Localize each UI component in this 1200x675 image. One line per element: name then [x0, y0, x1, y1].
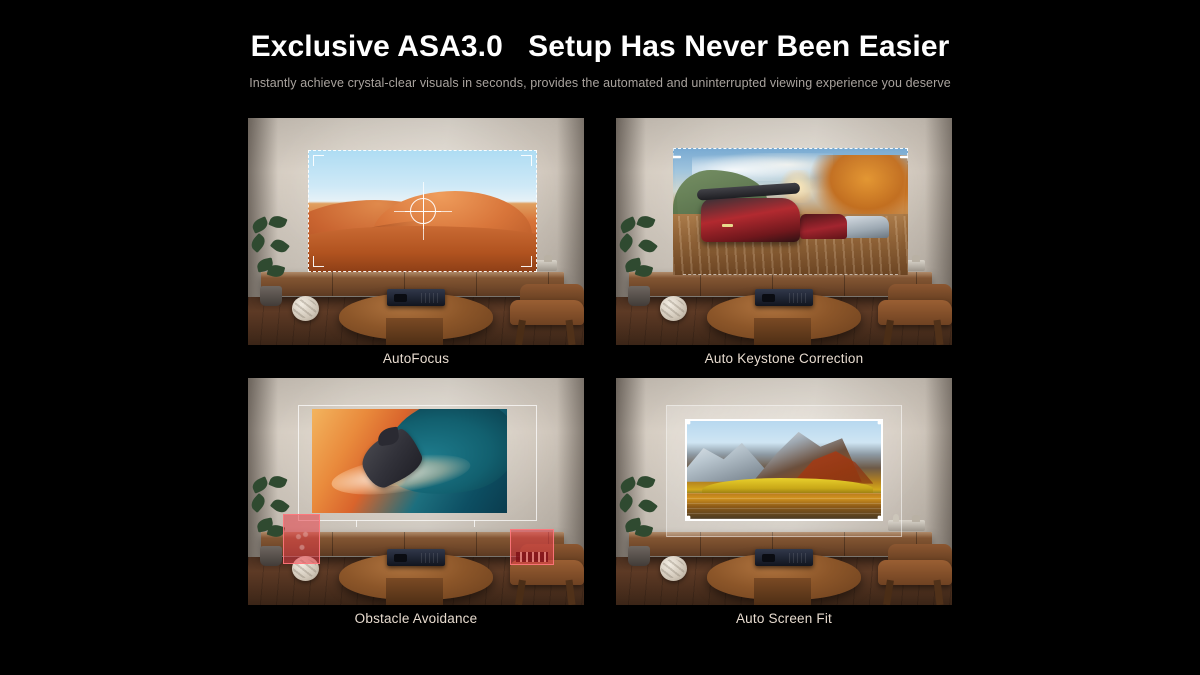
arrow-right-icon: [900, 150, 908, 164]
feature-card-autofocus[interactable]: AutoFocus: [248, 118, 584, 345]
obstacle-artwork: [291, 520, 313, 558]
table-leg: [754, 318, 811, 345]
leaf-icon: [635, 263, 654, 279]
leaf-icon: [619, 476, 638, 493]
plant-foliage: [618, 216, 665, 289]
mountain-lake-image: [687, 421, 881, 519]
wall-right-shadow: [557, 118, 584, 297]
leaf-icon: [269, 473, 288, 490]
projector-device: [387, 289, 444, 307]
knot-sculpture: [660, 296, 687, 321]
wall-right-shadow: [557, 378, 584, 557]
leaf-icon: [616, 493, 635, 513]
feature-card-obstacle[interactable]: Obstacle Avoidance: [248, 378, 584, 605]
keystone-frame-overlay: [673, 148, 908, 275]
knot-sculpture: [292, 296, 319, 321]
leaf-icon: [619, 216, 638, 233]
projector-vent: [421, 553, 440, 563]
obstacle-books: [516, 552, 548, 562]
leaf-icon: [248, 233, 267, 253]
feature-caption: Auto Screen Fit: [616, 611, 952, 626]
projector-lens: [394, 294, 407, 301]
scene-keystone: [616, 118, 952, 345]
corner-bracket-icon: [313, 256, 324, 267]
arrow-diagonal-in-icon: [874, 512, 883, 521]
projector-device: [755, 289, 812, 307]
plant-foliage: [250, 216, 297, 289]
arrow-diagonal-in-icon: [874, 419, 883, 428]
leaf-icon: [638, 237, 658, 256]
leaf-icon: [270, 497, 290, 516]
leaf-icon: [251, 476, 270, 493]
leaf-icon: [616, 233, 635, 253]
projector-device: [387, 549, 444, 567]
arrow-diagonal-in-icon: [685, 419, 694, 428]
lake-reflection: [687, 493, 881, 519]
plant-pot: [628, 286, 650, 306]
feature-grid: AutoFocus: [248, 118, 952, 638]
frame-tick: [356, 520, 357, 527]
arrow-left-icon: [673, 150, 681, 164]
focus-reticle-icon: [405, 193, 441, 229]
dolphin-fin: [377, 426, 400, 445]
scene-obstacle: [248, 378, 584, 605]
plant-foliage: [618, 476, 665, 549]
corner-bracket-icon: [521, 256, 532, 267]
wall-right-shadow: [925, 378, 952, 557]
feature-caption: Obstacle Avoidance: [248, 611, 584, 626]
feature-card-screenfit[interactable]: Auto Screen Fit: [616, 378, 952, 605]
plant-pot: [628, 546, 650, 566]
leaf-icon: [638, 497, 658, 516]
projector-lens: [394, 554, 407, 561]
projected-image-screenfit: [685, 419, 883, 521]
leaf-icon: [269, 213, 288, 230]
corner-bracket-icon: [313, 155, 324, 166]
table-leg: [754, 578, 811, 605]
corner-bracket-icon: [521, 155, 532, 166]
leaf-icon: [270, 237, 290, 256]
arrow-diagonal-in-icon: [685, 512, 694, 521]
page-title: Exclusive ASA3.0 Setup Has Never Been Ea…: [0, 30, 1200, 64]
header: Exclusive ASA3.0 Setup Has Never Been Ea…: [0, 0, 1200, 90]
feature-card-keystone[interactable]: Auto Keystone Correction: [616, 118, 952, 345]
projector-vent: [421, 293, 440, 303]
wall-right-shadow: [925, 118, 952, 297]
leaf-icon: [637, 473, 656, 490]
projector-device: [755, 549, 812, 567]
table-leg: [386, 578, 443, 605]
leaf-icon: [248, 493, 267, 513]
leaf-icon: [635, 523, 654, 539]
feature-caption: AutoFocus: [248, 351, 584, 366]
plant-pot: [260, 546, 282, 566]
promo-page: Exclusive ASA3.0 Setup Has Never Been Ea…: [0, 0, 1200, 675]
leaf-icon: [267, 263, 286, 279]
table-leg: [386, 318, 443, 345]
feature-caption: Auto Keystone Correction: [616, 351, 952, 366]
projector-vent: [789, 293, 808, 303]
frame-tick: [474, 520, 475, 527]
projector-lens: [762, 554, 775, 561]
dolphin-wave-image: [312, 409, 507, 513]
leaf-icon: [637, 213, 656, 230]
leaf-icon: [251, 216, 270, 233]
projector-lens: [762, 294, 775, 301]
scene-screenfit: [616, 378, 952, 605]
knot-sculpture: [660, 556, 687, 581]
scene-autofocus: [248, 118, 584, 345]
plant-pot: [260, 286, 282, 306]
projected-image-obstacle: [312, 409, 507, 513]
obstacle-marker-icon: [283, 514, 320, 564]
projected-image-keystone: [673, 148, 908, 275]
page-subtitle: Instantly achieve crystal-clear visuals …: [0, 76, 1200, 90]
projected-image-autofocus: [308, 150, 536, 273]
projector-vent: [789, 553, 808, 563]
obstacle-marker-icon: [510, 529, 554, 565]
reticle-crossline: [423, 193, 424, 229]
